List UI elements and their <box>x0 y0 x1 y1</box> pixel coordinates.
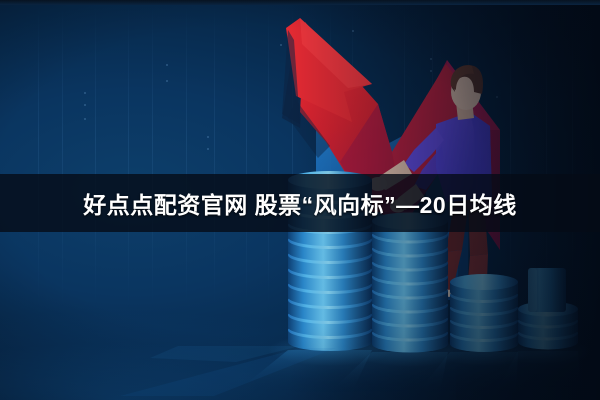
banner-image: 好点点配资官网 股票“风向标”—20日均线 <box>0 0 600 400</box>
caption-title: 好点点配资官网 股票“风向标”—20日均线 <box>83 186 516 220</box>
top-edge-strip <box>0 0 600 5</box>
caption-band: 好点点配资官网 股票“风向标”—20日均线 <box>0 174 600 232</box>
